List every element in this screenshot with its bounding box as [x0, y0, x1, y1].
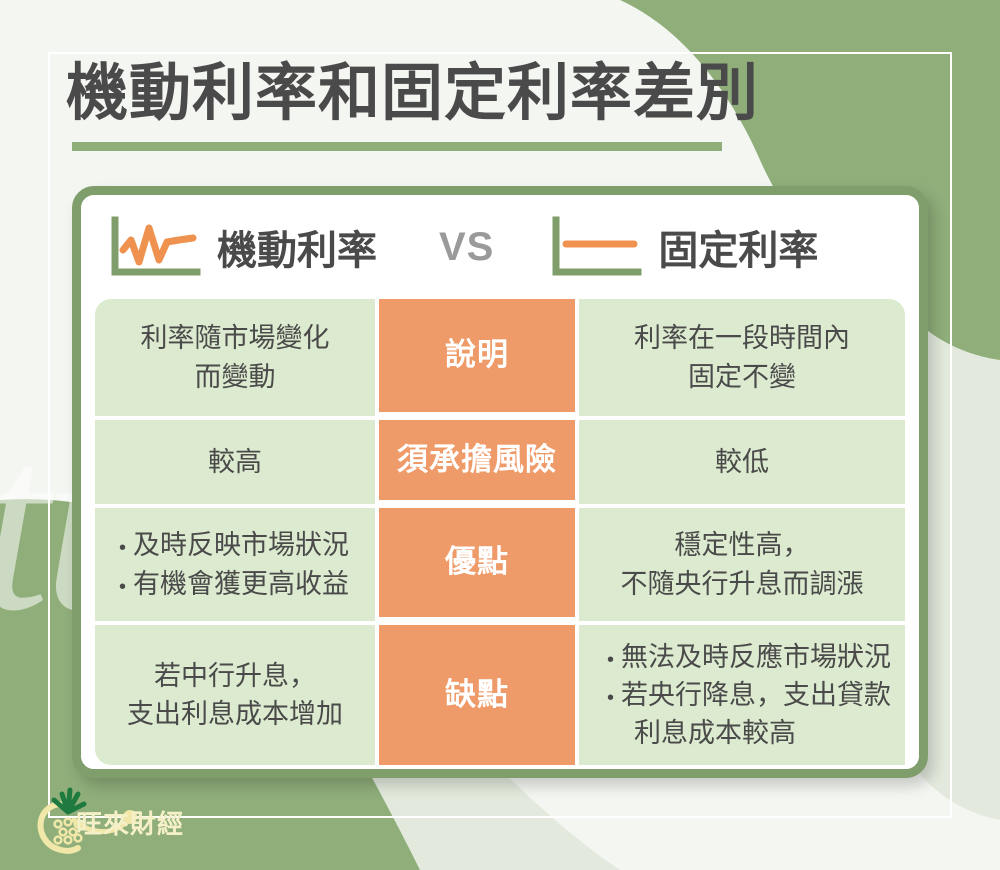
cell-text-line: 利率隨市場變化 [140, 319, 329, 357]
page-title: 機動利率和固定利率差別 [66, 42, 759, 132]
header-right-label: 固定利率 [658, 218, 818, 276]
fixed-rate-flatline-icon [550, 216, 642, 278]
bullet-continuation: 利息成本較高 [607, 714, 796, 752]
cell-right-risk: 較低 [575, 416, 905, 504]
bullet-text: 若央行降息，支出貸款 [621, 676, 891, 714]
cell-left-advantages: • 及時反映市場狀況 • 有機會獲更高收益 [95, 504, 379, 621]
brand-logo: 旺來財經 [18, 782, 198, 858]
bullet-dot-icon: • [119, 577, 126, 597]
bullet-text: 及時反映市場狀況 [133, 526, 349, 564]
bullet-text: 無法及時反應市場狀況 [621, 638, 891, 676]
attribute-label: 說明 [445, 333, 509, 377]
attribute-label: 缺點 [445, 673, 509, 717]
attribute-risk: 須承擔風險 [379, 416, 575, 504]
cell-text-line: 較高 [208, 443, 262, 481]
attribute-label: 須承擔風險 [397, 438, 557, 482]
bullet-item: • 無法及時反應市場狀況 [607, 638, 891, 676]
attribute-advantages: 優點 [379, 504, 575, 621]
cell-text-line: 若中行升息， [154, 657, 316, 695]
attribute-disadvantages: 缺點 [379, 621, 575, 765]
header-right-group: 固定利率 [550, 216, 818, 278]
cell-text-line: 而變動 [194, 358, 275, 396]
bullet-text: 有機會獲更高收益 [133, 565, 349, 603]
header-left-group: 機動利率 [109, 216, 377, 278]
volatile-rate-chart-icon [109, 216, 201, 278]
bullet-item: • 若央行降息，支出貸款 [607, 676, 891, 714]
cell-text-line: 固定不變 [688, 358, 796, 396]
cell-right-disadvantages: • 無法及時反應市場狀況 • 若央行降息，支出貸款 利息成本較高 [575, 621, 905, 765]
vs-label: VS [439, 225, 494, 270]
cell-right-description: 利率在一段時間內 固定不變 [575, 299, 905, 416]
bullet-item: • 及時反映市場狀況 [119, 526, 349, 564]
bullet-dot-icon: • [119, 538, 126, 558]
title-underline-rule [72, 142, 722, 151]
bullet-item: • 有機會獲更高收益 [119, 565, 349, 603]
cell-right-advantages: 穩定性高， 不隨央行升息而調漲 [575, 504, 905, 621]
comparison-header: 機動利率 VS 固定利率 [81, 195, 919, 299]
cell-left-description: 利率隨市場變化 而變動 [95, 299, 379, 416]
comparison-card: 機動利率 VS 固定利率 利率隨市場變化 而變動 說明 利率在一段時間內 固定不… [72, 186, 928, 778]
cell-text-line: 穩定性高， [674, 526, 809, 564]
brand-name: 旺來財經 [76, 804, 184, 841]
bullet-dot-icon: • [607, 688, 614, 708]
attribute-description: 說明 [379, 299, 575, 416]
cell-text-line: 利率在一段時間內 [634, 319, 850, 357]
cell-left-risk: 較高 [95, 416, 379, 504]
header-left-label: 機動利率 [217, 218, 377, 276]
cell-left-disadvantages: 若中行升息， 支出利息成本增加 [95, 621, 379, 765]
bullet-dot-icon: • [607, 650, 614, 670]
cell-text-line: 不隨央行升息而調漲 [620, 565, 863, 603]
attribute-label: 優點 [445, 540, 509, 584]
cell-text-line: 支出利息成本增加 [127, 695, 343, 733]
comparison-grid: 利率隨市場變化 而變動 說明 利率在一段時間內 固定不變 較高 須承擔風險 較低… [95, 299, 905, 765]
cell-text-line: 較低 [715, 443, 769, 481]
